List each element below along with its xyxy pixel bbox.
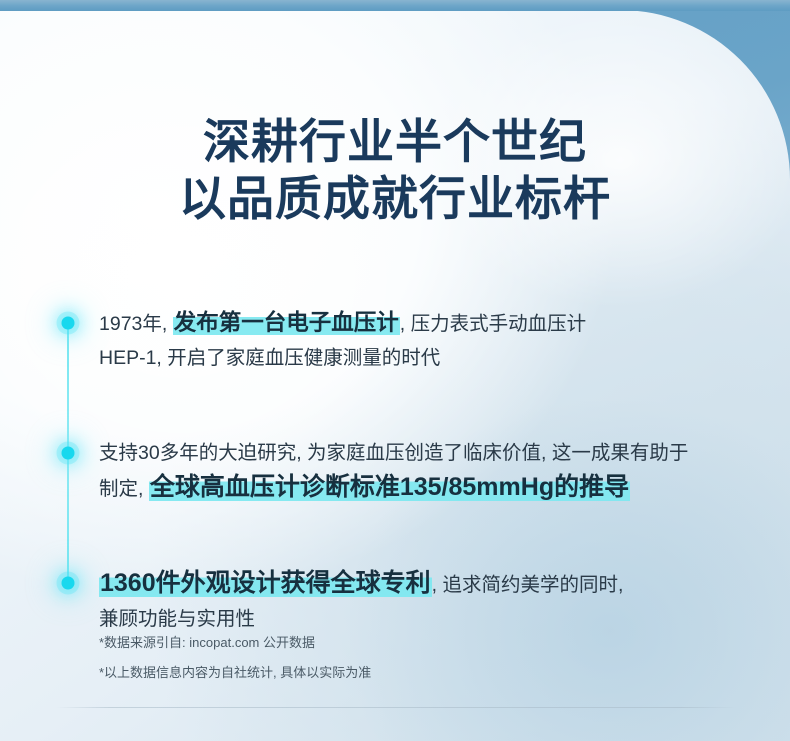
text-post: , 压力表式手动血压计 <box>400 313 586 335</box>
bottom-divider <box>56 707 736 708</box>
timeline-item-1-line-1: 1973年, 发布第一台电子血压计, 压力表式手动血压计 <box>99 306 767 341</box>
text-pre: 支持30多年的大迫研究, 为家庭血压创造了临床价值, 这一成果有助于 <box>99 442 688 464</box>
timeline-dot-2-icon <box>62 447 75 460</box>
headline-line-1: 深耕行业半个世纪 <box>0 113 790 170</box>
timeline-item-2-line-1: 支持30多年的大迫研究, 为家庭血压创造了临床价值, 这一成果有助于 <box>99 436 767 470</box>
highlighted-text: 发布第一台电子血压计 <box>173 310 400 335</box>
headline-line-2: 以品质成就行业标杆 <box>0 170 790 227</box>
text-pre: 1973年, <box>99 313 173 335</box>
footnote-data-source: *数据来源引自: incopat.com 公开数据 <box>99 634 315 652</box>
text-pre: HEP-1, 开启了家庭血压健康测量的时代 <box>99 347 440 369</box>
timeline-item-1: 1973年, 发布第一台电子血压计, 压力表式手动血压计 HEP-1, 开启了家… <box>99 306 767 375</box>
timeline-item-2: 支持30多年的大迫研究, 为家庭血压创造了临床价值, 这一成果有助于 制定, 全… <box>99 436 767 506</box>
footnote-disclaimer: *以上数据信息内容为自社统计, 具体以实际为准 <box>99 664 371 682</box>
highlighted-text: 1360件外观设计获得全球专利 <box>99 569 432 597</box>
timeline-item-3: 1360件外观设计获得全球专利, 追求简约美学的同时, 兼顾功能与实用性 <box>99 566 767 636</box>
top-accent-strip <box>0 0 790 11</box>
timeline-item-3-line-1: 1360件外观设计获得全球专利, 追求简约美学的同时, <box>99 566 767 602</box>
timeline-dot-1-icon <box>62 317 75 330</box>
text-pre: 兼顾功能与实用性 <box>99 608 255 630</box>
timeline-item-1-line-2: HEP-1, 开启了家庭血压健康测量的时代 <box>99 341 767 375</box>
text-pre: 制定, <box>99 478 149 500</box>
highlighted-text: 全球高血压计诊断标准135/85mmHg的推导 <box>149 473 630 501</box>
text-post: , 追求简约美学的同时, <box>432 574 624 596</box>
content-layer: 深耕行业半个世纪 以品质成就行业标杆 1973年, 发布第一台电子血压计, 压力… <box>0 0 790 741</box>
timeline-item-3-line-2: 兼顾功能与实用性 <box>99 602 767 636</box>
timeline-dot-3-icon <box>62 577 75 590</box>
page-title: 深耕行业半个世纪 以品质成就行业标杆 <box>0 113 790 227</box>
promo-page: 深耕行业半个世纪 以品质成就行业标杆 1973年, 发布第一台电子血压计, 压力… <box>0 0 790 741</box>
timeline-item-2-line-2: 制定, 全球高血压计诊断标准135/85mmHg的推导 <box>99 470 767 506</box>
